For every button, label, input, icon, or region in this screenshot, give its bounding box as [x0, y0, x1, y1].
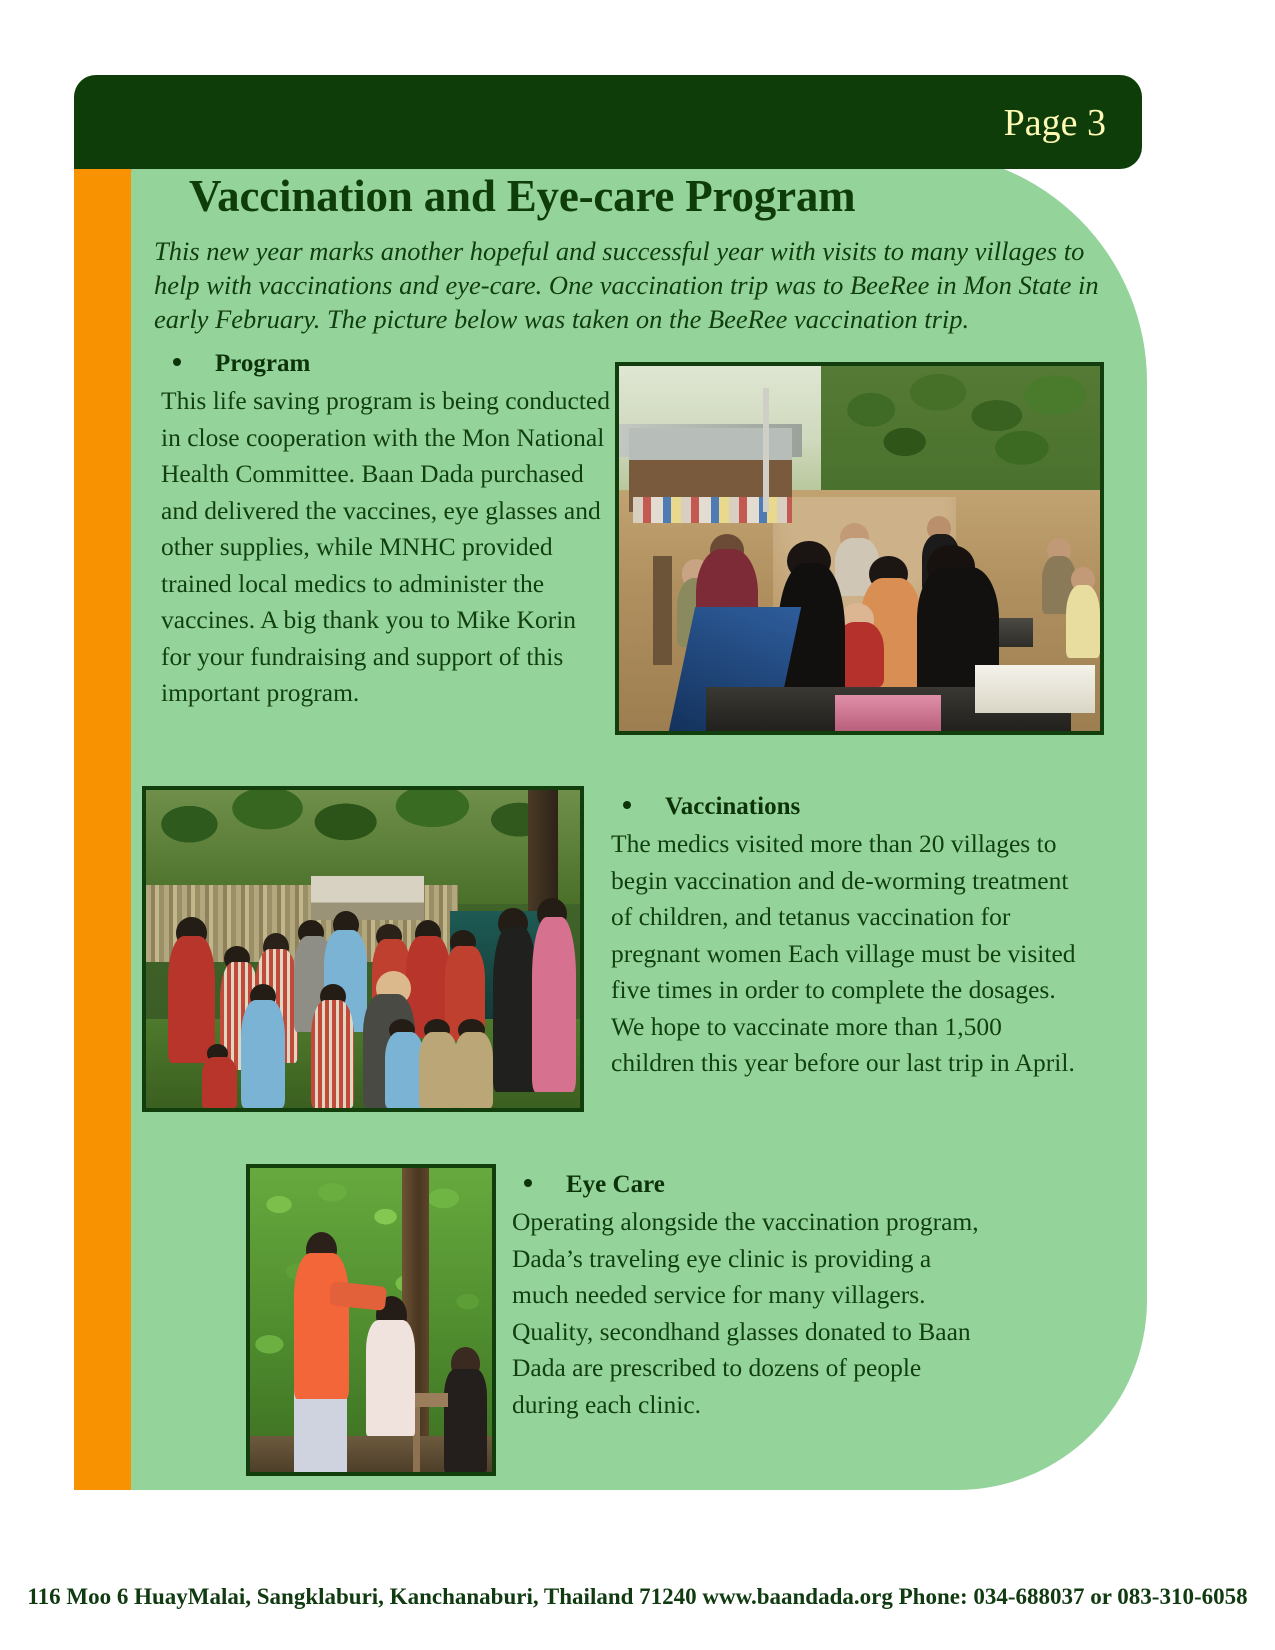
section-eyecare: Eye Care Operating alongside the vaccina… [512, 1170, 982, 1423]
photo-pole [763, 388, 769, 512]
photo-pink-basket [835, 695, 941, 732]
photo-eye-clinic [246, 1164, 496, 1476]
photo-village-children [142, 786, 584, 1112]
bullet-icon [623, 801, 631, 809]
photo-man-body [294, 1253, 350, 1399]
photo-child-body [241, 1000, 284, 1108]
photo-woman-body [444, 1369, 488, 1472]
photo-child-body [168, 936, 216, 1063]
photo-vaccination-clinic [615, 362, 1104, 735]
photo-woman-body [493, 927, 536, 1092]
photo-thatched-hut [311, 876, 424, 921]
section-program-heading-label: Program [215, 349, 310, 379]
photo-child-body [454, 1032, 493, 1108]
section-vaccinations-body: The medics visited more than 20 villages… [611, 826, 1081, 1082]
photo-child-body [419, 1032, 458, 1108]
section-eyecare-heading-label: Eye Care [566, 1170, 665, 1200]
footer-divider [0, 1563, 1275, 1565]
page-title: Vaccination and Eye-care Program [189, 170, 1089, 222]
orange-accent-bar [74, 152, 132, 1490]
section-program-body: This life saving program is being conduc… [161, 383, 611, 712]
photo-woman-body [532, 917, 575, 1092]
photo-child-body [385, 1032, 424, 1108]
bullet-icon [173, 358, 181, 366]
photo-man-legs [294, 1387, 347, 1472]
photo-child-body [202, 1057, 237, 1108]
article-intro: This new year marks another hopeful and … [154, 234, 1127, 336]
section-eyecare-heading: Eye Care [512, 1170, 982, 1200]
footer-contact-info: 116 Moo 6 HuayMalai, Sangklaburi, Kancha… [0, 1584, 1275, 1610]
photo-person-body [1066, 585, 1100, 658]
newsletter-page: Page 3 Vaccination and Eye-care Program … [0, 0, 1275, 1650]
section-program-heading: Program [161, 349, 611, 379]
photo-patient-body [366, 1320, 414, 1436]
article-content: Vaccination and Eye-care Program This ne… [131, 152, 1147, 1490]
photo-child-body [311, 1000, 354, 1108]
bullet-icon [524, 1179, 532, 1187]
section-eyecare-body: Operating alongside the vaccination prog… [512, 1204, 982, 1423]
photo-notebook [975, 665, 1095, 712]
photo-wood-post [653, 556, 672, 666]
section-vaccinations-heading: Vaccinations [611, 792, 1081, 822]
section-vaccinations: Vaccinations The medics visited more tha… [611, 792, 1081, 1082]
page-number: Page 3 [1004, 101, 1106, 145]
section-program: Program This life saving program is bein… [161, 349, 611, 712]
section-vaccinations-heading-label: Vaccinations [665, 792, 800, 822]
